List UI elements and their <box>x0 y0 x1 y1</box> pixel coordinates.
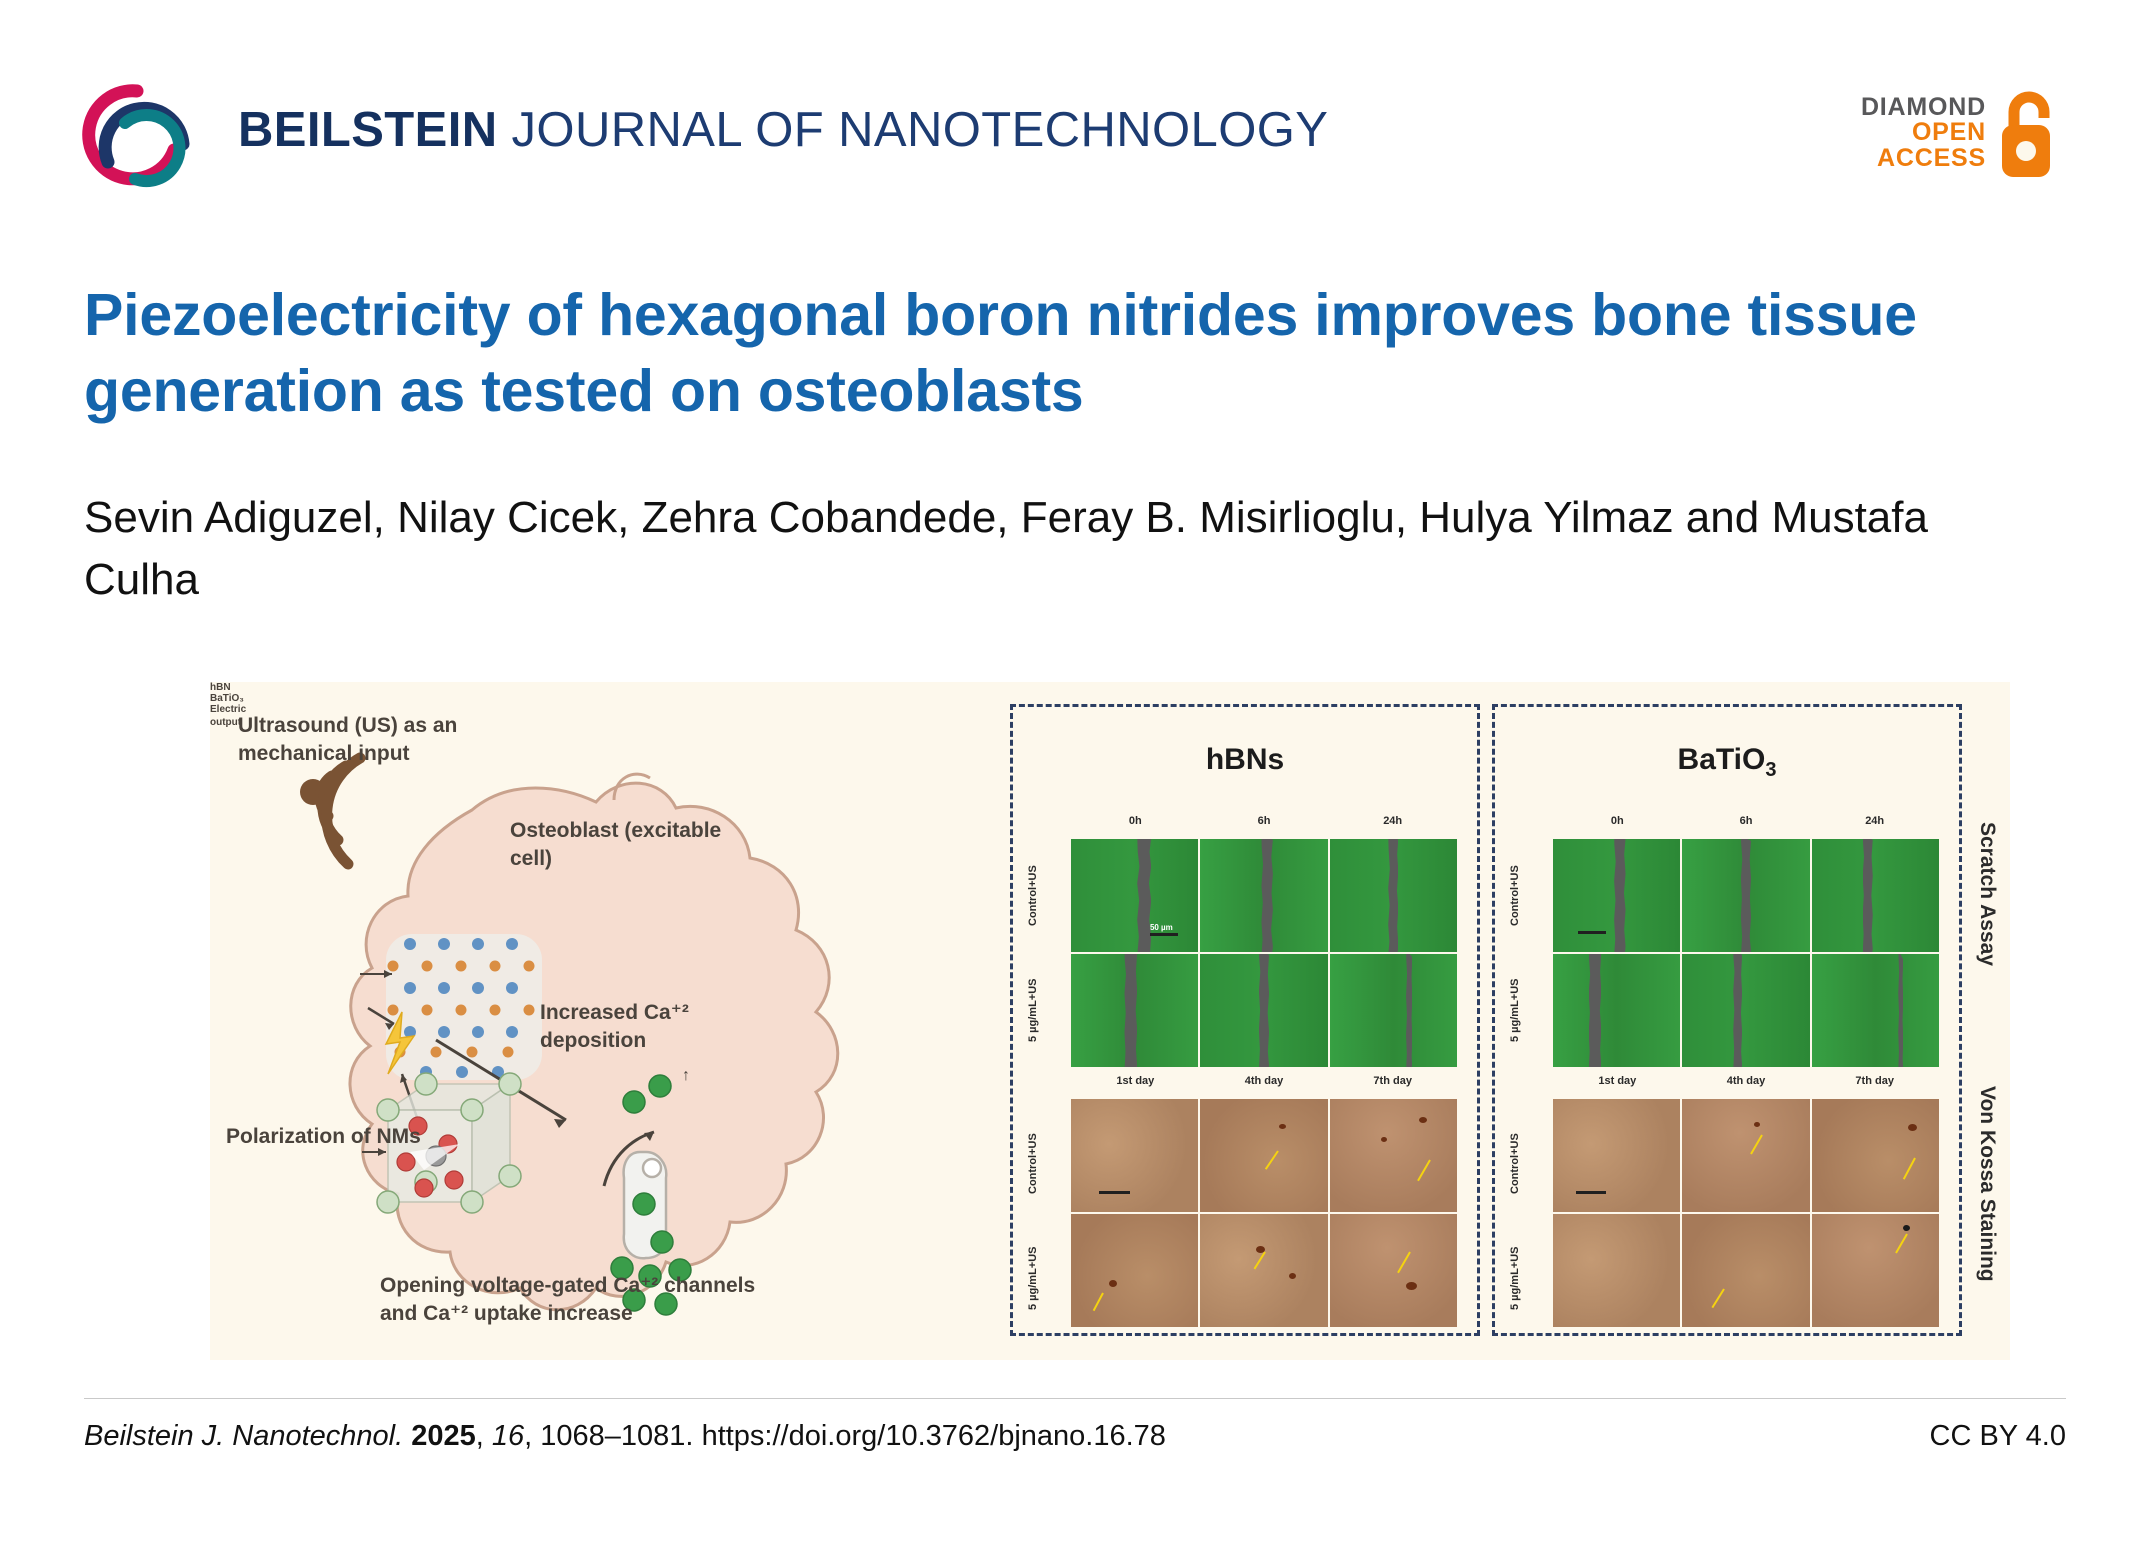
micrograph-cell <box>1200 1214 1327 1327</box>
citation-line: Beilstein J. Nanotechnol. 2025, 16, 1068… <box>84 1420 1166 1453</box>
scale-bar-label: 50 µm <box>1150 923 1173 932</box>
micrograph-cell <box>1812 954 1939 1067</box>
open-access-badge: DIAMOND OPEN ACCESS <box>1861 78 2062 188</box>
polarization-label: Polarization of NMs <box>226 1125 421 1149</box>
hbns-scratch-ticks: 0h 6h 24h <box>1071 815 1457 839</box>
mineral-deposit <box>1406 1282 1417 1290</box>
side-label-scratch-assay: Scratch Assay <box>1975 822 1999 1052</box>
scratch-gap <box>1733 954 1742 1067</box>
mineral-deposit <box>1289 1273 1296 1279</box>
rowlabel-control-us-vonkossa: Control+US <box>1027 1107 1039 1220</box>
micrograph-cell <box>1812 1099 1939 1212</box>
rowlabel-treated-us-vonkossa: 5 µg/mL+US <box>1509 1222 1521 1335</box>
oa-line-access: ACCESS <box>1877 146 1986 172</box>
voltage-gated-channel-label: Opening voltage-gated Ca⁺² channels and … <box>380 1272 780 1328</box>
scratch-gap <box>1406 954 1412 1067</box>
annotation-arrow <box>1712 1288 1725 1308</box>
micrograph-cell <box>1812 839 1939 952</box>
micrograph-cell <box>1071 954 1198 1067</box>
side-label-von-kossa: Von Kossa Staining <box>1975 1086 1999 1336</box>
calcium-deposition-label: Increased Ca⁺² deposition <box>540 999 750 1055</box>
scratch-gap <box>1614 839 1625 952</box>
ultrasound-waves-icon <box>300 758 360 864</box>
hbns-grid: 0h 6h 24h 50 µm <box>1071 815 1457 1329</box>
micrograph-cell <box>1553 954 1680 1067</box>
hbns-vonkossa-ticks: 1st day 4th day 7th day <box>1071 1075 1457 1099</box>
tick-1st-day: 1st day <box>1553 1075 1682 1099</box>
hbns-vonkossa-row-treated <box>1071 1214 1457 1327</box>
tick-24h: 24h <box>1810 815 1939 839</box>
scratch-gap <box>1589 954 1602 1067</box>
panel-title-hbns-text: hBNs <box>1206 743 1284 776</box>
license-label: CC BY 4.0 <box>1930 1420 2066 1453</box>
micrograph-cell <box>1200 839 1327 952</box>
oa-line-diamond: DIAMOND <box>1861 95 1986 121</box>
scratch-gap <box>1863 839 1873 952</box>
tick-4th-day: 4th day <box>1200 1075 1329 1099</box>
journal-title-bold: BEILSTEIN <box>238 103 498 157</box>
annotation-arrow <box>1254 1252 1266 1270</box>
mineral-deposit <box>1903 1225 1910 1231</box>
annotation-arrow <box>1750 1135 1763 1155</box>
journal-title-light: JOURNAL OF NANOTECHNOLOGY <box>498 103 1329 157</box>
annotation-arrow <box>1417 1160 1431 1182</box>
annotation-arrow <box>1397 1252 1411 1274</box>
batio3-scratch-row-control <box>1553 839 1939 952</box>
citation-doi-link[interactable]: https://doi.org/10.3762/bjnano.16.78 <box>702 1420 1166 1452</box>
batio3-scratch-ticks: 0h 6h 24h <box>1553 815 1939 839</box>
tick-7th-day: 7th day <box>1810 1075 1939 1099</box>
panel-title-hbns: hBNs <box>1013 743 1477 777</box>
graphical-abstract: ↑ Ultrasound (US) as an mechanical input… <box>210 682 2010 1360</box>
citation-pages: 1068–1081. <box>540 1420 693 1452</box>
micrograph-cell <box>1071 1214 1198 1327</box>
micrograph-cell <box>1200 954 1327 1067</box>
batio3-grid: 0h 6h 24h <box>1553 815 1939 1329</box>
annotation-arrow <box>1092 1293 1103 1312</box>
hbns-scratch-row-treated <box>1071 954 1457 1067</box>
hbns-vonkossa-row-control <box>1071 1099 1457 1212</box>
rowlabel-treated-us-scratch: 5 µg/mL+US <box>1509 954 1521 1067</box>
batio3-vonkossa-row-treated <box>1553 1214 1939 1327</box>
micrograph-cell <box>1330 1099 1457 1212</box>
panel-title-batio3: BaTiO3 <box>1495 743 1959 782</box>
hbns-scratch-row-control: 50 µm <box>1071 839 1457 952</box>
batio3-vonkossa-ticks: 1st day 4th day 7th day <box>1553 1075 1939 1099</box>
scratch-gap <box>1259 954 1269 1067</box>
mineral-deposit <box>1754 1122 1760 1127</box>
annotation-arrow <box>1895 1234 1908 1254</box>
panel-hbns: hBNs 0h 6h 24h 50 µm <box>1010 704 1480 1336</box>
osteoblast-label: Osteoblast (excitable cell) <box>510 817 740 873</box>
micrograph-cell <box>1553 1099 1680 1212</box>
mechanism-schematic: ↑ Ultrasound (US) as an mechanical input… <box>210 682 1000 1360</box>
beilstein-triple-arc-logo-icon <box>78 78 204 188</box>
journal-title: BEILSTEIN JOURNAL OF NANOTECHNOLOGY <box>238 102 1328 158</box>
annotation-arrow <box>1902 1157 1915 1179</box>
scratch-gap <box>1741 839 1751 952</box>
citation-volume: 16 <box>492 1420 524 1452</box>
scale-bar <box>1576 1191 1607 1194</box>
masthead: BEILSTEIN JOURNAL OF NANOTECHNOLOGY DIAM… <box>0 0 2150 200</box>
micrograph-cell <box>1330 954 1457 1067</box>
batio3-scratch-row-treated <box>1553 954 1939 1067</box>
open-access-wordmark: DIAMOND OPEN ACCESS <box>1861 95 1986 172</box>
micrograph-cell <box>1330 1214 1457 1327</box>
mineral-deposit <box>1908 1124 1917 1131</box>
author-list: Sevin Adiguzel, Nilay Cicek, Zehra Coban… <box>84 487 1984 612</box>
mineral-deposit <box>1109 1280 1117 1287</box>
batio3-vonkossa-row-control <box>1553 1099 1939 1212</box>
micrograph-cell <box>1200 1099 1327 1212</box>
page-title: Piezoelectricity of hexagonal boron nitr… <box>84 278 2044 429</box>
micrograph-cell <box>1553 1214 1680 1327</box>
footer-divider <box>84 1398 2066 1399</box>
micrograph-cell <box>1553 839 1680 952</box>
tick-1st-day: 1st day <box>1071 1075 1200 1099</box>
mineral-deposit <box>1279 1124 1286 1129</box>
micrograph-cell <box>1071 1099 1198 1212</box>
micrograph-cell <box>1682 1099 1809 1212</box>
citation-year: 2025 <box>411 1420 476 1452</box>
tick-6h: 6h <box>1200 815 1329 839</box>
scratch-gap <box>1261 839 1272 952</box>
open-padlock-icon <box>2000 87 2062 179</box>
ultrasound-input-label: Ultrasound (US) as an mechanical input <box>238 712 498 768</box>
panel-title-batio3-text: BaTiO <box>1678 743 1766 776</box>
micrograph-montage: hBNs 0h 6h 24h 50 µm <box>1010 704 1995 1336</box>
scale-bar <box>1150 933 1178 936</box>
annotation-arrow <box>1265 1150 1279 1169</box>
oa-line-open: OPEN <box>1912 120 1986 146</box>
micrograph-cell: 50 µm <box>1071 839 1198 952</box>
micrograph-cell <box>1682 1214 1809 1327</box>
rowlabel-treated-us-vonkossa: 5 µg/mL+US <box>1027 1222 1039 1335</box>
tick-0h: 0h <box>1553 815 1682 839</box>
tick-7th-day: 7th day <box>1328 1075 1457 1099</box>
svg-text:↑: ↑ <box>682 1067 690 1084</box>
micrograph-cell <box>1812 1214 1939 1327</box>
scratch-gap <box>1124 954 1137 1067</box>
scale-bar <box>1578 931 1606 934</box>
panel-title-batio3-sub: 3 <box>1765 759 1776 781</box>
scratch-gap <box>1898 954 1903 1067</box>
mineral-deposit <box>1381 1137 1387 1142</box>
rowlabel-control-us-scratch: Control+US <box>1027 839 1039 952</box>
tick-24h: 24h <box>1328 815 1457 839</box>
rowlabel-treated-us-scratch: 5 µg/mL+US <box>1027 954 1039 1067</box>
panel-batio3: BaTiO3 0h 6h 24h <box>1492 704 1962 1336</box>
micrograph-cell <box>1330 839 1457 952</box>
mineral-deposit <box>1419 1117 1427 1123</box>
tick-0h: 0h <box>1071 815 1200 839</box>
rowlabel-control-us-vonkossa: Control+US <box>1509 1107 1521 1220</box>
citation-journal: Beilstein J. Nanotechnol. <box>84 1420 403 1452</box>
tick-6h: 6h <box>1682 815 1811 839</box>
micrograph-cell <box>1682 839 1809 952</box>
rowlabel-control-us-scratch: Control+US <box>1509 839 1521 952</box>
micrograph-cell <box>1682 954 1809 1067</box>
tick-4th-day: 4th day <box>1682 1075 1811 1099</box>
article-cover-page: BEILSTEIN JOURNAL OF NANOTECHNOLOGY DIAM… <box>0 0 2150 1547</box>
scale-bar <box>1099 1191 1130 1194</box>
scratch-gap <box>1388 839 1398 952</box>
